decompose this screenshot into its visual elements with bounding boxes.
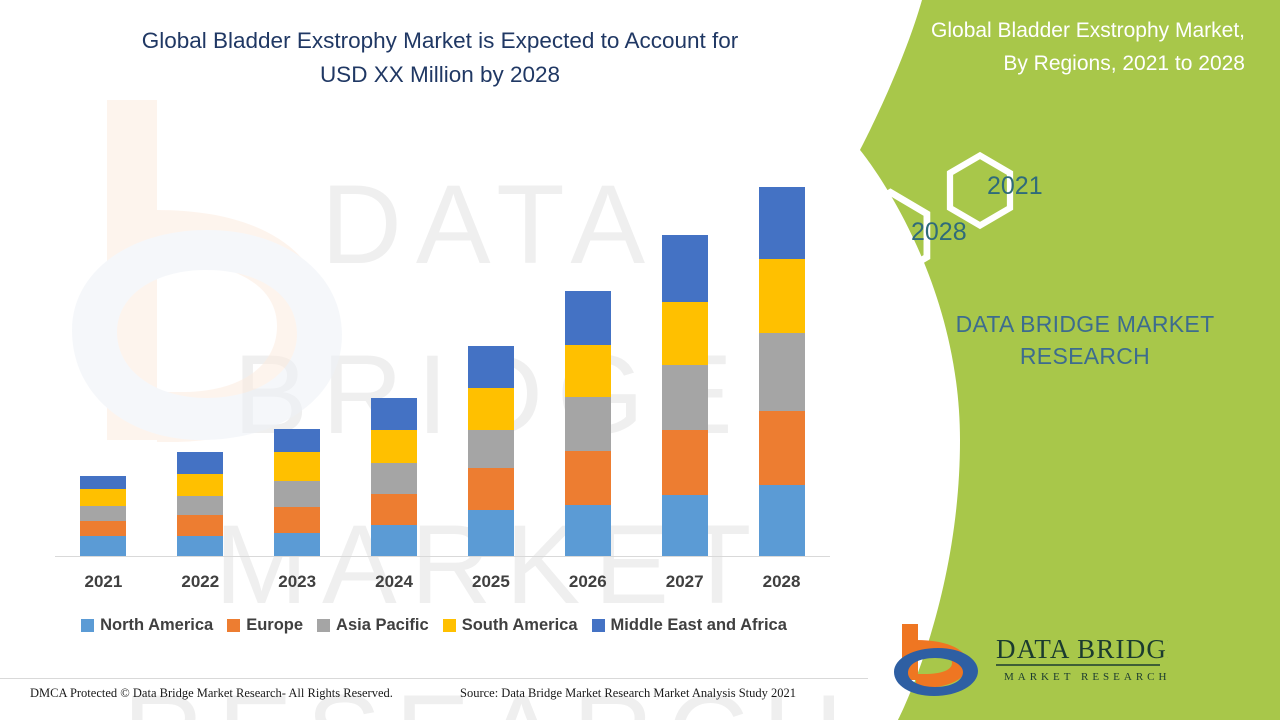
bar-segment-2028-north-america[interactable] <box>759 485 805 556</box>
bar-segment-2028-south-america[interactable] <box>759 259 805 333</box>
bar-segment-2021-europe[interactable] <box>80 521 126 536</box>
legend-item-south-america[interactable]: South America <box>443 616 578 635</box>
chart-title-line2: USD XX Million by 2028 <box>40 58 840 92</box>
bar-segment-2026-north-america[interactable] <box>565 505 611 556</box>
x-axis-label-2022: 2022 <box>160 572 240 592</box>
bar-segment-2021-asia-pacific[interactable] <box>80 506 126 521</box>
data-bridge-logo-svg: DATA BRIDGE MARKET RESEARCH <box>888 618 1168 698</box>
x-axis-label-2027: 2027 <box>645 572 725 592</box>
right-green-panel: Global Bladder Exstrophy Market, By Regi… <box>840 0 1280 720</box>
bar-segment-2027-middle-east-and-africa[interactable] <box>662 235 708 302</box>
logo-tagline: MARKET RESEARCH <box>1004 671 1168 683</box>
bar-segment-2022-south-america[interactable] <box>177 474 223 496</box>
legend-label: Asia Pacific <box>336 616 429 635</box>
chart-title: Global Bladder Exstrophy Market is Expec… <box>40 24 840 92</box>
legend-swatch-icon <box>227 619 240 632</box>
bar-segment-2022-middle-east-and-africa[interactable] <box>177 452 223 474</box>
bar-segment-2028-europe[interactable] <box>759 411 805 485</box>
legend-swatch-icon <box>592 619 605 632</box>
company-name-line2: RESEARCH <box>890 340 1280 372</box>
bar-segment-2027-europe[interactable] <box>662 430 708 495</box>
bar-segment-2028-middle-east-and-africa[interactable] <box>759 187 805 259</box>
bar-2027[interactable] <box>662 235 708 556</box>
chart-title-line1: Global Bladder Exstrophy Market is Expec… <box>40 24 840 58</box>
footer-copyright: DMCA Protected © Data Bridge Market Rese… <box>30 686 393 701</box>
bar-segment-2027-asia-pacific[interactable] <box>662 365 708 430</box>
bar-segment-2021-north-america[interactable] <box>80 536 126 556</box>
company-name: DATA BRIDGE MARKET RESEARCH <box>890 308 1280 372</box>
bar-2023[interactable] <box>274 429 320 556</box>
x-axis-label-2026: 2026 <box>548 572 628 592</box>
bar-2026[interactable] <box>565 291 611 556</box>
x-axis-label-2024: 2024 <box>354 572 434 592</box>
bar-2028[interactable] <box>759 187 805 556</box>
hexagon-2021-label: 2021 <box>987 172 1043 200</box>
legend-item-asia-pacific[interactable]: Asia Pacific <box>317 616 429 635</box>
bar-segment-2025-south-america[interactable] <box>468 388 514 430</box>
x-axis-label-2021: 2021 <box>63 572 143 592</box>
bar-segment-2023-south-america[interactable] <box>274 452 320 481</box>
bar-segment-2022-europe[interactable] <box>177 515 223 536</box>
legend-item-north-america[interactable]: North America <box>81 616 213 635</box>
plot-area <box>55 150 830 556</box>
bar-segment-2022-asia-pacific[interactable] <box>177 496 223 515</box>
bar-segment-2025-asia-pacific[interactable] <box>468 430 514 468</box>
bar-segment-2028-asia-pacific[interactable] <box>759 333 805 411</box>
bar-segment-2026-europe[interactable] <box>565 451 611 505</box>
legend-swatch-icon <box>317 619 330 632</box>
bar-segment-2023-asia-pacific[interactable] <box>274 481 320 507</box>
bar-segment-2021-middle-east-and-africa[interactable] <box>80 476 126 489</box>
bar-segment-2023-middle-east-and-africa[interactable] <box>274 429 320 452</box>
bar-segment-2025-north-america[interactable] <box>468 510 514 556</box>
logo-wordmark: DATA BRIDGE <box>996 634 1168 664</box>
bar-2024[interactable] <box>371 398 417 556</box>
chart-panel: Global Bladder Exstrophy Market is Expec… <box>0 0 880 720</box>
legend-label: Europe <box>246 616 303 635</box>
company-name-line1: DATA BRIDGE MARKET <box>890 308 1280 340</box>
bar-segment-2023-north-america[interactable] <box>274 533 320 556</box>
bar-segment-2024-europe[interactable] <box>371 494 417 525</box>
legend-swatch-icon <box>443 619 456 632</box>
x-axis-line <box>55 556 830 557</box>
bar-segment-2023-europe[interactable] <box>274 507 320 533</box>
legend-label: Middle East and Africa <box>611 616 787 635</box>
bar-segment-2024-south-america[interactable] <box>371 430 417 463</box>
x-axis-label-2028: 2028 <box>742 572 822 592</box>
legend-swatch-icon <box>81 619 94 632</box>
legend-label: South America <box>462 616 578 635</box>
bar-segment-2024-middle-east-and-africa[interactable] <box>371 398 417 430</box>
bar-2022[interactable] <box>177 452 223 556</box>
bar-segment-2022-north-america[interactable] <box>177 536 223 556</box>
bar-segment-2026-south-america[interactable] <box>565 345 611 397</box>
x-axis-label-2025: 2025 <box>451 572 531 592</box>
bar-segment-2024-asia-pacific[interactable] <box>371 463 417 494</box>
infographic-root: DATA BRIDGE MARKET RESEARCH Global Bladd… <box>0 0 1280 720</box>
bar-segment-2026-middle-east-and-africa[interactable] <box>565 291 611 345</box>
chart-legend: North AmericaEuropeAsia PacificSouth Ame… <box>0 616 868 635</box>
right-panel-title-line1: Global Bladder Exstrophy Market, <box>875 14 1245 47</box>
bar-segment-2024-north-america[interactable] <box>371 525 417 556</box>
x-axis-label-2023: 2023 <box>257 572 337 592</box>
bar-2021[interactable] <box>80 476 126 556</box>
bar-2025[interactable] <box>468 346 514 556</box>
bar-segment-2027-south-america[interactable] <box>662 302 708 365</box>
bar-segment-2021-south-america[interactable] <box>80 489 126 506</box>
hexagon-2028-label: 2028 <box>911 218 967 246</box>
x-axis-labels: 20212022202320242025202620272028 <box>55 572 830 600</box>
right-panel-title: Global Bladder Exstrophy Market, By Regi… <box>875 14 1245 80</box>
hexagon-group: 2028 2021 <box>840 130 1280 290</box>
data-bridge-logo: DATA BRIDGE MARKET RESEARCH <box>888 618 1168 698</box>
legend-item-europe[interactable]: Europe <box>227 616 303 635</box>
bar-segment-2025-middle-east-and-africa[interactable] <box>468 346 514 388</box>
footer-divider <box>0 678 868 679</box>
bar-segment-2026-asia-pacific[interactable] <box>565 397 611 451</box>
bar-segment-2027-north-america[interactable] <box>662 495 708 556</box>
footer-source: Source: Data Bridge Market Research Mark… <box>460 686 796 701</box>
right-panel-title-line2: By Regions, 2021 to 2028 <box>875 47 1245 80</box>
legend-label: North America <box>100 616 213 635</box>
bar-segment-2025-europe[interactable] <box>468 468 514 510</box>
legend-item-middle-east-and-africa[interactable]: Middle East and Africa <box>592 616 787 635</box>
